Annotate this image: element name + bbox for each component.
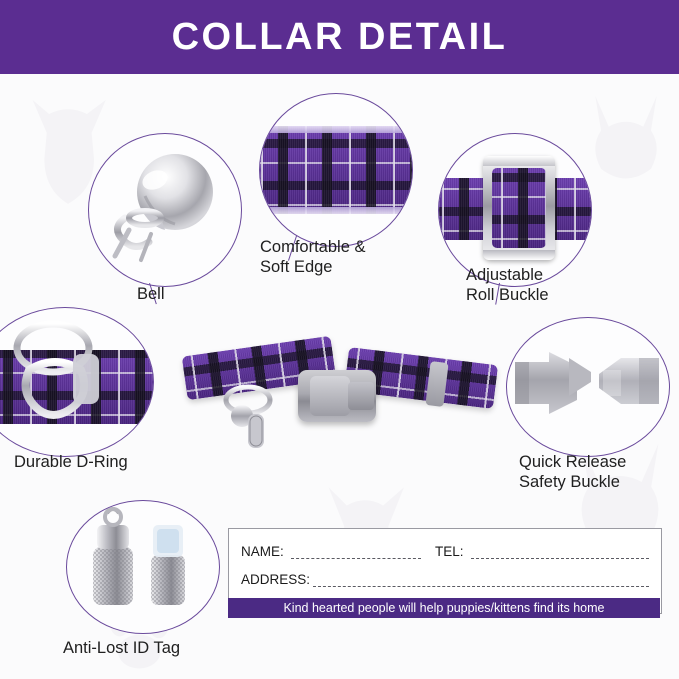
id-tel-label: TEL: [435,544,464,559]
soft-edge-label: Comfortable & Soft Edge [260,237,365,277]
id-address-line [313,586,649,587]
roll-buckle-icon [483,156,555,260]
soft-edge-callout-circle [259,93,413,247]
quick-release-callout-circle [506,317,670,457]
hanging-hardware [214,354,344,504]
quick-release-buckle-icon [507,318,669,456]
bell-label: Bell [137,284,165,304]
id-tel-line [471,558,649,559]
d-ring-callout-circle [0,307,154,457]
d-ring-icon [0,308,153,456]
roll-buckle-label: Adjustable Roll Buckle [466,265,549,305]
product-infographic: COLLAR DETAIL [0,0,679,679]
cat-silhouette-watermark [578,86,674,196]
id-banner: Kind hearted people will help puppies/ki… [228,598,660,618]
id-name-label: NAME: [241,544,284,559]
d-ring-label: Durable D-Ring [14,452,128,472]
id-name-line [291,558,421,559]
page-title: COLLAR DETAIL [172,16,508,59]
id-address-label: ADDRESS: [241,572,310,587]
roll-buckle-callout-circle [438,133,592,287]
bell-callout-circle [88,133,242,287]
id-tag-callout-circle [66,500,220,634]
bell-icon [89,134,241,286]
id-capsule-icon [67,501,219,633]
quick-release-label: Quick Release Safety Buckle [519,452,626,492]
header-bar: COLLAR DETAIL [0,0,679,74]
main-collar-image [178,310,498,460]
id-tag-label: Anti-Lost ID Tag [63,638,180,658]
